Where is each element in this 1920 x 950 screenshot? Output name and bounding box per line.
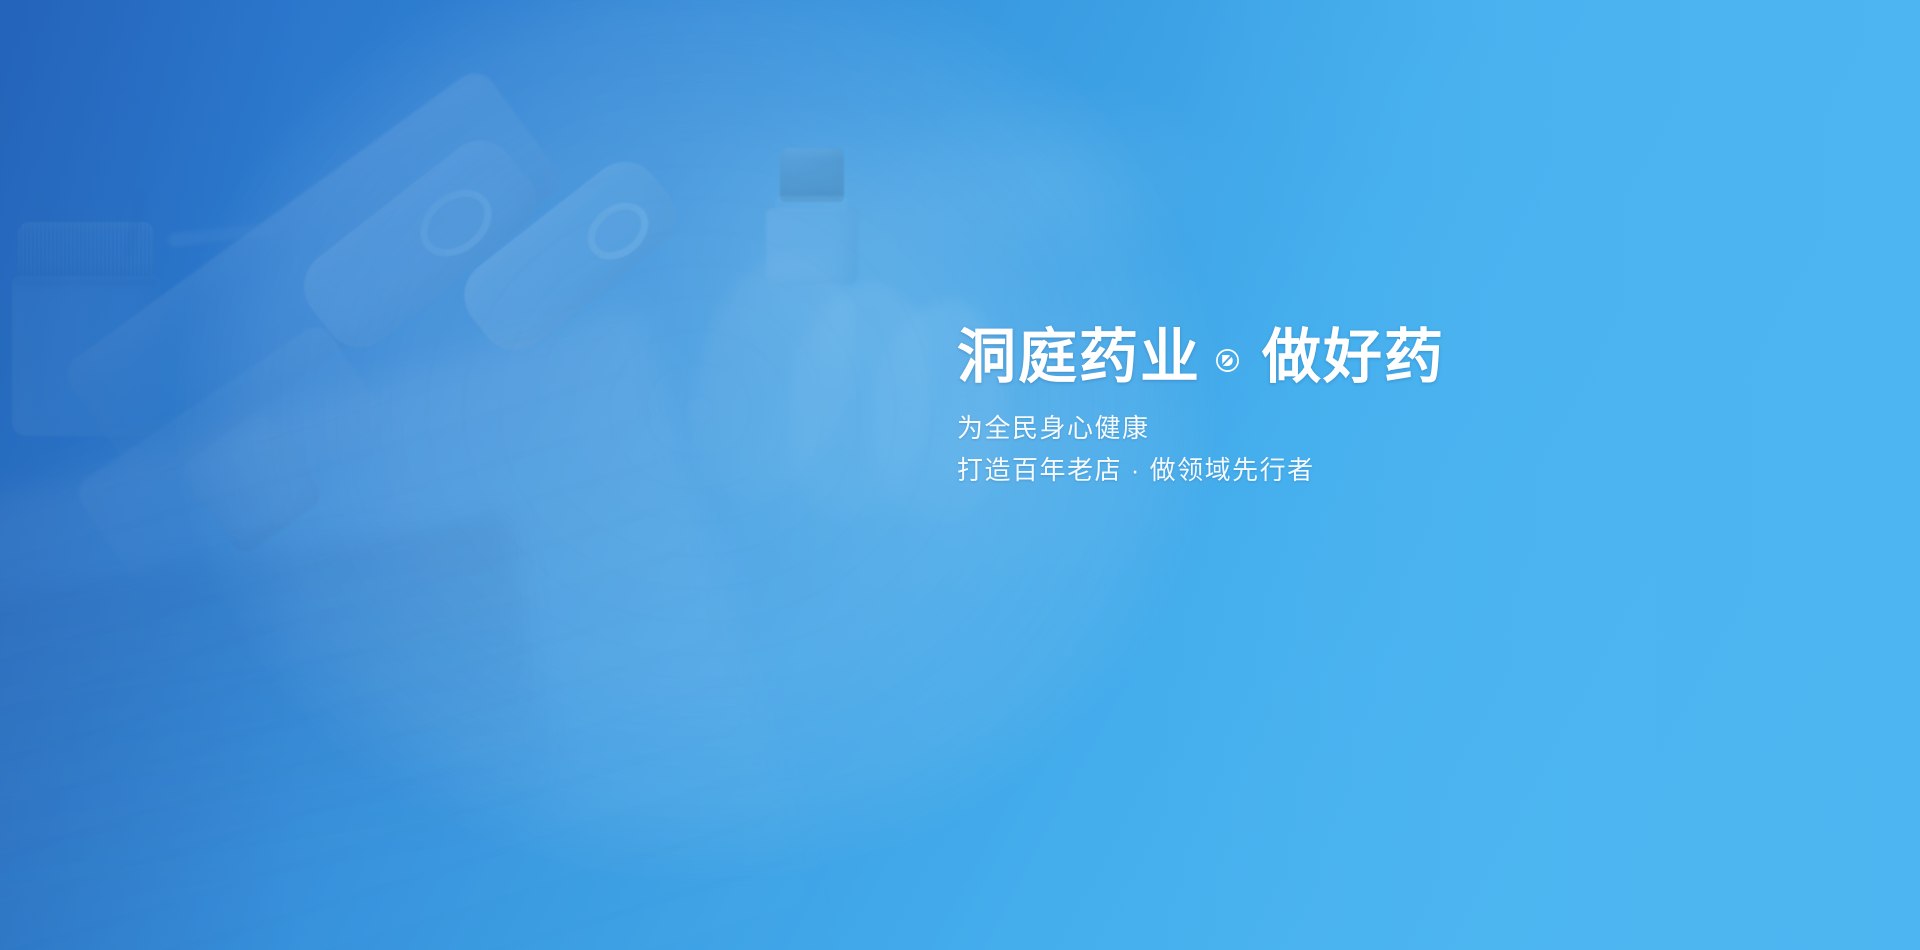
- hero-banner: 洞庭药业 做好药 为全民身心健康 打造百年老店 · 做领域先行者: [0, 0, 1920, 950]
- banner-subtitle-line-2: 打造百年老店 · 做领域先行者: [957, 450, 1657, 490]
- circle-d-trademark-icon: [1215, 348, 1240, 373]
- headline-brand: 洞庭药业: [957, 320, 1201, 394]
- headline-slogan: 做好药: [1262, 320, 1445, 394]
- banner-copy: 洞庭药业 做好药 为全民身心健康 打造百年老店 · 做领域先行者: [957, 320, 1657, 490]
- banner-subtitle-line-1: 为全民身心健康: [957, 408, 1657, 448]
- banner-headline: 洞庭药业 做好药: [957, 320, 1657, 394]
